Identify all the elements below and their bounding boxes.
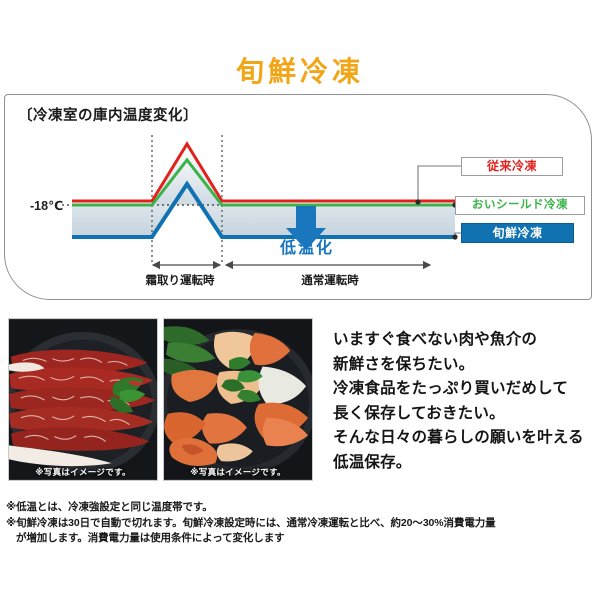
footnotes: ※低温とは、冷凍強設定と同じ温度帯です。 ※旬鮮冷凍は30日で自動で切れます。旬… — [6, 500, 596, 547]
copy-line-3: 冷凍食品をたっぷり買いだめして — [333, 377, 595, 402]
marketing-copy: いますぐ食べない肉や魚介の 新鮮さを保ちたい。 冷凍食品をたっぷり買いだめして … — [333, 328, 595, 475]
low-temp-annotation: 低温化 — [280, 234, 334, 258]
legend-item-shunsen: 旬鮮冷凍 — [461, 223, 574, 243]
photo-crab: ※写真はイメージです。 — [163, 318, 313, 481]
phase-label-defrost: 霜取り運転時 — [130, 272, 230, 288]
copy-line-6: 低温保存。 — [333, 451, 595, 476]
footnote-line-2: ※旬鮮冷凍は30日で自動で切れます。旬鮮冷凍設定時には、通常冷凍運転と比べ、約2… — [6, 516, 596, 532]
footnote-line-1: ※低温とは、冷凍強設定と同じ温度帯です。 — [6, 500, 596, 516]
copy-line-2: 新鮮さを保ちたい。 — [333, 353, 595, 378]
axis-label-minus18: -18℃ — [30, 198, 63, 213]
photo-beef-image — [9, 319, 157, 480]
copy-line-1: いますぐ食べない肉や魚介の — [333, 328, 595, 353]
copy-line-4: 長く保存しておきたい。 — [333, 402, 595, 427]
legend-item-shield: おいシールド冷凍 — [455, 196, 585, 215]
page-root: 旬鮮冷凍 〔冷凍室の庫内温度変化〕 — [0, 0, 600, 600]
copy-line-5: そんな日々の暮らしの願いを叶える — [333, 426, 595, 451]
photo-crab-image — [164, 319, 312, 480]
photo-beef: ※写真はイメージです。 — [8, 318, 158, 481]
page-title: 旬鮮冷凍 — [0, 50, 600, 90]
legend-item-conventional: 従来冷凍 — [461, 157, 563, 176]
chart-panel-heading: 〔冷凍室の庫内温度変化〕 — [18, 104, 198, 125]
footnote-line-3: が増加します。消費電力量は使用条件によって変化します — [6, 531, 596, 547]
phase-label-normal: 通常運転時 — [270, 272, 390, 288]
photo-caption-beef: ※写真はイメージです。 — [9, 466, 157, 478]
photo-caption-crab: ※写真はイメージです。 — [164, 466, 312, 478]
